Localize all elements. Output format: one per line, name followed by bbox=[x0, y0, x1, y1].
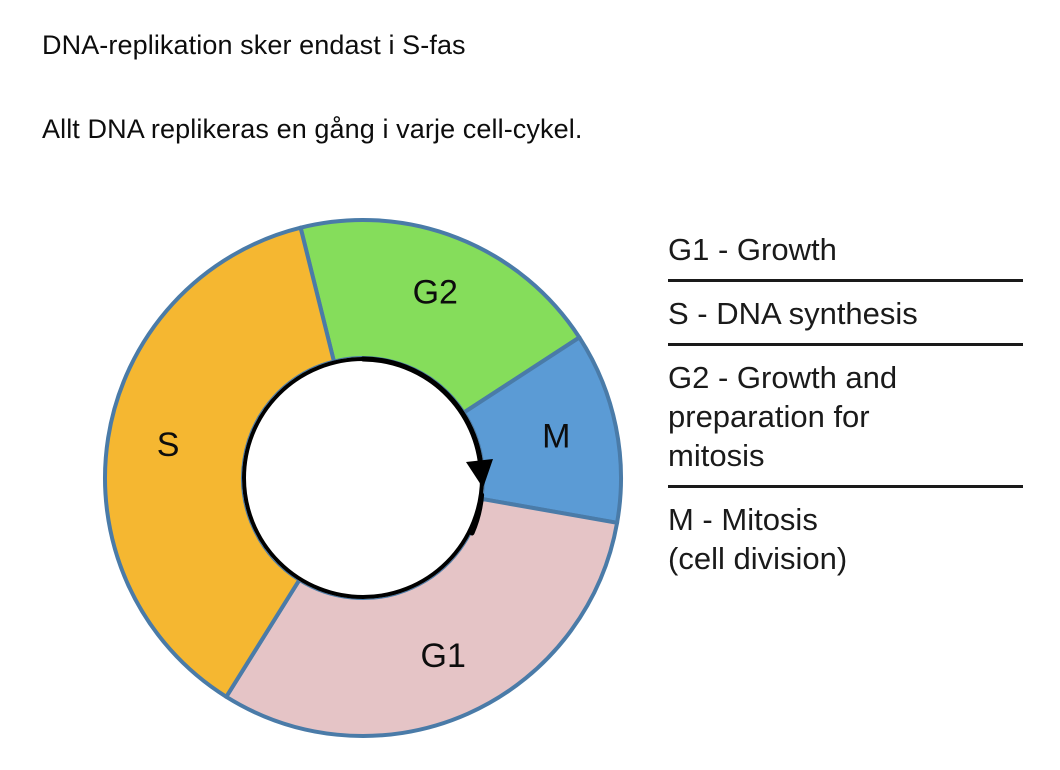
donut-label-s: S bbox=[157, 426, 180, 464]
legend-text-line: S - DNA synthesis bbox=[668, 294, 1023, 333]
legend-text-line: mitosis bbox=[668, 436, 1023, 475]
legend-row: S - DNA synthesis bbox=[668, 279, 1023, 343]
cell-cycle-diagram: G2MG1S bbox=[95, 210, 631, 746]
legend-entry-text: G1 - Growth bbox=[668, 230, 1023, 269]
legend-text-line: M - Mitosis bbox=[668, 500, 1023, 539]
legend-text-line: (cell division) bbox=[668, 539, 1023, 578]
heading-line-primary: DNA-replikation sker endast i S-fas bbox=[42, 28, 842, 62]
legend-entry-text: M - Mitosis(cell division) bbox=[668, 500, 1023, 578]
legend: G1 - GrowthS - DNA synthesisG2 - Growth … bbox=[668, 228, 1023, 588]
donut-label-g1: G1 bbox=[421, 637, 466, 675]
donut-label-m: M bbox=[542, 418, 570, 456]
legend-text-line: G1 - Growth bbox=[668, 230, 1023, 269]
cell-cycle-donut-chart: G2MG1S bbox=[95, 210, 631, 746]
legend-text-line: G2 - Growth and bbox=[668, 358, 1023, 397]
figure-area: G2MG1S G1 - GrowthS - DNA synthesisG2 - … bbox=[0, 180, 1060, 770]
donut-label-g2: G2 bbox=[413, 273, 458, 311]
legend-row: G1 - Growth bbox=[668, 228, 1023, 279]
legend-entry-text: S - DNA synthesis bbox=[668, 294, 1023, 333]
legend-entry-text: G2 - Growth andpreparation formitosis bbox=[668, 358, 1023, 475]
legend-row: G2 - Growth andpreparation formitosis bbox=[668, 343, 1023, 485]
legend-row: M - Mitosis(cell division) bbox=[668, 485, 1023, 588]
heading-line-secondary: Allt DNA replikeras en gång i varje cell… bbox=[42, 112, 842, 146]
legend-text-line: preparation for bbox=[668, 397, 1023, 436]
heading-block: DNA-replikation sker endast i S-fas Allt… bbox=[42, 28, 842, 146]
